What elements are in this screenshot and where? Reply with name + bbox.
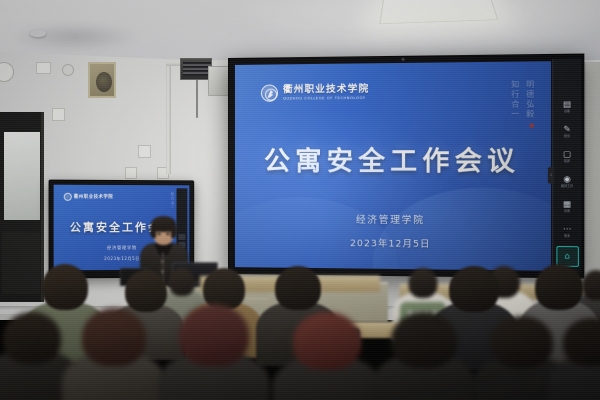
- toolbar-button-apps[interactable]: ▦ 应用: [556, 196, 579, 217]
- institution-name-en: QUZHOU COLLEGE OF TECHNOLOGY: [283, 96, 369, 101]
- screen-icon: ▢: [563, 150, 571, 158]
- calligraphy-column-1: 明德弘毅: [524, 80, 536, 119]
- toolbar-button-cast[interactable]: ▢ 投屏: [556, 146, 579, 167]
- presenter-brow-left: [156, 230, 162, 232]
- list-item: [158, 316, 270, 400]
- ceiling-stain: [10, 22, 140, 52]
- ac-vent: [183, 62, 211, 76]
- classroom-scene: 衢州职业技术学院 QUZHOU COLLEGE OF TECHNOLOGY 明德…: [0, 0, 600, 400]
- preview-institution-logo: 衢州职业技术学院: [64, 193, 113, 201]
- institution-logo: 衢州职业技术学院 QUZHOU COLLEGE OF TECHNOLOGY: [261, 84, 369, 102]
- conduit-pipe: [166, 62, 171, 174]
- preview-calligraphy-2: 知行合一: [170, 192, 175, 210]
- outlet-1[interactable]: [52, 108, 65, 121]
- slide-surface: 衢州职业技术学院 QUZHOU COLLEGE OF TECHNOLOGY 明德…: [235, 61, 551, 271]
- clock-icon-secondary: [62, 64, 74, 76]
- person-head: [179, 304, 249, 366]
- university-crest-icon: [261, 85, 278, 102]
- door-glass: [4, 132, 40, 220]
- person-head: [563, 318, 600, 366]
- preview-institution-name: 衢州职业技术学院: [74, 194, 113, 200]
- person-head: [535, 264, 583, 310]
- outlet-3[interactable]: [125, 167, 137, 179]
- institution-name-cn: 衢州职业技术学院: [283, 85, 369, 96]
- calligraphy-seal-icon: [530, 124, 534, 128]
- person-head: [275, 266, 321, 310]
- person-head: [42, 264, 88, 310]
- outlet-2[interactable]: [138, 145, 151, 158]
- toolbar-button-capture[interactable]: ◉ 截屏工具: [556, 171, 579, 192]
- speaker-icon: [88, 62, 116, 98]
- whiteboard-icon: ▤: [563, 100, 571, 108]
- toolbar-label-capture: 截屏工具: [561, 185, 573, 188]
- toolbar-button-more[interactable]: ⋯ 更多: [556, 221, 579, 242]
- slide-decor-arc-2: [235, 197, 397, 271]
- slide-subtitle: 经济管理学院: [235, 211, 551, 227]
- slide-decor-arc: [373, 187, 551, 270]
- panel-light: [379, 0, 498, 24]
- person-head: [293, 312, 361, 370]
- list-item: [372, 322, 476, 400]
- toolbar-label-cast: 投屏: [564, 160, 570, 163]
- presenter-brow-right: [165, 230, 171, 232]
- person-head: [391, 312, 457, 368]
- projection-screen[interactable]: 衢州职业技术学院 QUZHOU COLLEGE OF TECHNOLOGY 明德…: [228, 54, 584, 279]
- smoke-detector-icon: [30, 30, 46, 37]
- camera-icon: ◉: [563, 175, 571, 183]
- toolbar-label-apps: 应用: [564, 210, 570, 213]
- toolbar-collapse-handle[interactable]: ‹: [548, 167, 554, 184]
- pen-icon: ✎: [564, 125, 571, 133]
- home-icon: ⌂: [564, 252, 569, 260]
- screen-toolbar[interactable]: ‹ ▤ 白板 ✎ 批注 ▢ 投屏 ◉ 截屏工具 ▦ 应用 ⋯: [552, 59, 581, 273]
- audience: BOER: [0, 270, 600, 400]
- hanging-wire: [196, 78, 198, 118]
- toolbar-label-more: 更多: [564, 235, 570, 238]
- toolbar-button-annotate[interactable]: ✎ 批注: [556, 121, 579, 142]
- speaker-cone: [96, 72, 112, 92]
- list-item: [272, 322, 382, 400]
- more-icon: ⋯: [563, 225, 572, 233]
- presenter-eye-left: [157, 233, 161, 235]
- calligraphy-column-2: 知行合一: [509, 80, 521, 119]
- person-head: [491, 316, 553, 368]
- list-item: [62, 320, 166, 400]
- wall-switch[interactable]: [36, 62, 51, 74]
- person-head: [3, 312, 61, 364]
- presenter-hair-right: [171, 223, 177, 238]
- apps-icon: ▦: [563, 200, 571, 208]
- toolbar-label-annotate: 批注: [564, 135, 570, 138]
- screen-camera-icon: [401, 58, 404, 61]
- list-item: [548, 326, 600, 400]
- toolbar-label-whiteboard: 白板: [564, 110, 570, 113]
- presenter-eye-right: [166, 233, 170, 235]
- toolbar-button-whiteboard[interactable]: ▤ 白板: [556, 96, 579, 117]
- slide-title: 公寓安全工作会议: [235, 140, 551, 178]
- calligraphy-decor: 明德弘毅 知行合一: [509, 80, 536, 120]
- university-crest-icon-small: [64, 193, 72, 201]
- person-head: [82, 308, 146, 366]
- person-head: [125, 270, 167, 312]
- person-head: [449, 266, 499, 312]
